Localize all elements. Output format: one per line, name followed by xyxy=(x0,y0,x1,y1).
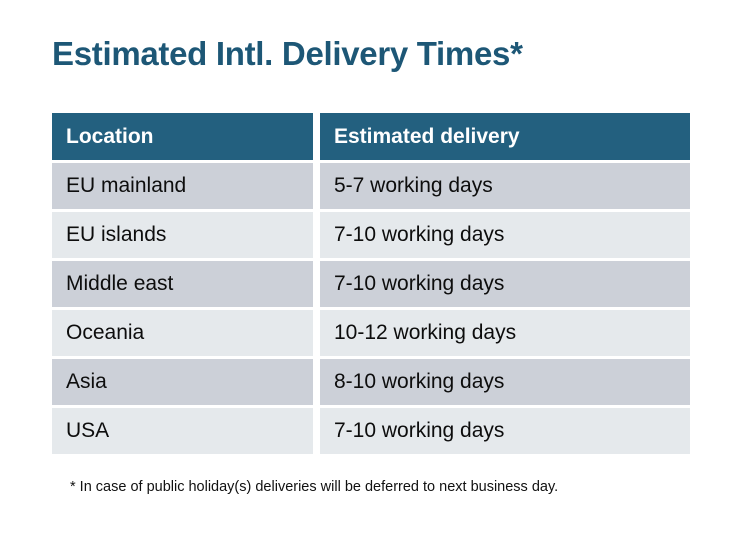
page-title: Estimated Intl. Delivery Times* xyxy=(52,36,523,72)
column-header-estimated-delivery: Estimated delivery xyxy=(320,113,690,160)
cell-location: USA xyxy=(52,408,313,454)
cell-location: Oceania xyxy=(52,310,313,356)
table-row: Asia 8-10 working days xyxy=(52,359,690,405)
cell-estimated-delivery: 7-10 working days xyxy=(320,212,690,258)
footnote-text: * In case of public holiday(s) deliverie… xyxy=(70,479,558,495)
cell-location: EU islands xyxy=(52,212,313,258)
table-row: Middle east 7-10 working days xyxy=(52,261,690,307)
cell-estimated-delivery: 7-10 working days xyxy=(320,261,690,307)
cell-estimated-delivery: 10-12 working days xyxy=(320,310,690,356)
table-row: Oceania 10-12 working days xyxy=(52,310,690,356)
cell-location: Asia xyxy=(52,359,313,405)
cell-location: EU mainland xyxy=(52,163,313,209)
column-header-location: Location xyxy=(52,113,313,160)
delivery-times-page: Estimated Intl. Delivery Times* Location… xyxy=(0,0,745,536)
cell-estimated-delivery: 5-7 working days xyxy=(320,163,690,209)
table-row: EU islands 7-10 working days xyxy=(52,212,690,258)
estimated-delivery-table: Location Estimated delivery EU mainland … xyxy=(52,113,690,454)
table-row: EU mainland 5-7 working days xyxy=(52,163,690,209)
cell-location: Middle east xyxy=(52,261,313,307)
table-row: USA 7-10 working days xyxy=(52,408,690,454)
cell-estimated-delivery: 8-10 working days xyxy=(320,359,690,405)
table-header-row: Location Estimated delivery xyxy=(52,113,690,160)
cell-estimated-delivery: 7-10 working days xyxy=(320,408,690,454)
